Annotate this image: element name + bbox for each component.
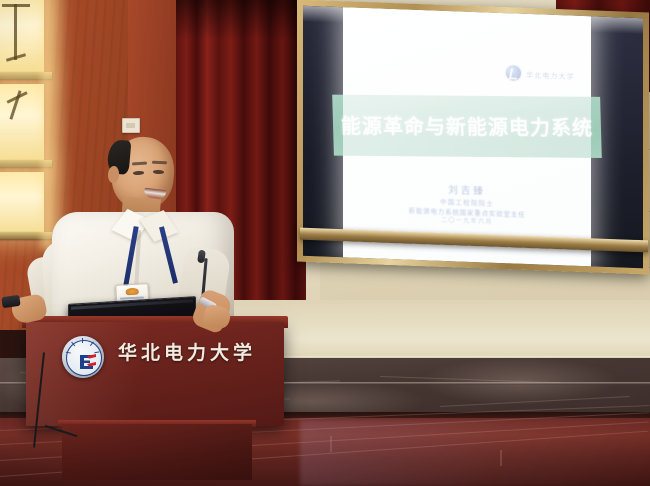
wall-lantern-panel-lower (0, 172, 44, 234)
conference-presentation-photo: 华北电力大学 能源革命与新能源电力系统 刘吉臻 中国工程院院士 新能源电力系统国… (0, 0, 650, 486)
lantern-ornament-crossbar (2, 4, 30, 7)
slide-subtitle-block: 刘吉臻 中国工程院院士 新能源电力系统国家重点实验室主任 二〇一九年六月 (343, 180, 591, 232)
slide-logo-text: 华北电力大学 (526, 68, 575, 80)
speaker-eye-left (133, 171, 144, 175)
speaker-eye-right (153, 170, 164, 174)
emblem-monogram-icon (77, 352, 99, 372)
wall-socket-plate[interactable] (122, 118, 140, 133)
marble-vein-5 (440, 396, 630, 407)
speaker-eyebrow-right (152, 161, 167, 165)
slide-title: 能源革命与新能源电力系统 (341, 110, 594, 141)
podium-base (62, 424, 252, 480)
lantern-glow (42, 0, 68, 250)
slide-title-band: 能源革命与新能源电力系统 (332, 94, 601, 158)
presentation-slide[interactable]: 华北电力大学 能源革命与新能源电力系统 刘吉臻 中国工程院院士 新能源电力系统国… (343, 7, 591, 266)
slide-university-logo: 华北电力大学 (506, 65, 575, 83)
curtain-top-shadow (176, 0, 306, 40)
floor-reflection-sheen (300, 420, 650, 486)
badge-logo-icon (125, 288, 138, 296)
podium-university-label: 华北电力大学 (118, 338, 256, 365)
emblem-tick-1 (82, 338, 83, 343)
university-logo-icon (506, 65, 521, 81)
emblem-inner-ring (66, 340, 102, 376)
ncepu-emblem (62, 336, 104, 378)
lantern-ornament-stem (14, 4, 17, 60)
